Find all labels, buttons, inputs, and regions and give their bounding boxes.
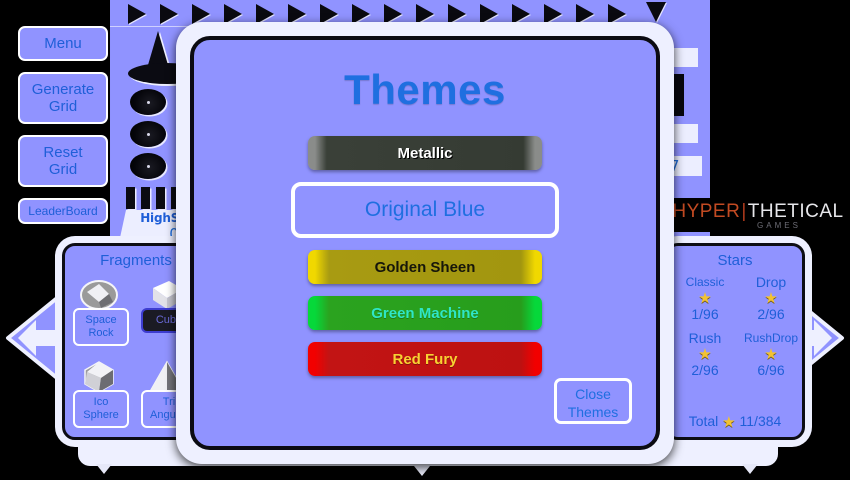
stars-total-row: Total ★ 11/384 xyxy=(668,413,802,430)
triangle-right-icon xyxy=(576,4,594,24)
logo-subtitle: GAMES xyxy=(757,221,801,230)
menu-button[interactable]: Menu xyxy=(18,26,108,61)
triangle-right-icon xyxy=(352,4,370,24)
tray-foot-left xyxy=(96,464,112,474)
theme-option-metallic[interactable]: Metallic xyxy=(308,136,542,170)
logo-part2: THETICAL xyxy=(748,201,844,222)
triangle-right-icon xyxy=(544,4,562,24)
triangle-right-icon xyxy=(160,4,178,24)
themes-modal-body: Themes MetallicOriginal BlueGolden Sheen… xyxy=(190,36,660,450)
fragment-label[interactable]: IcoSphere xyxy=(73,390,129,428)
theme-option-red-fury[interactable]: Red Fury xyxy=(308,342,542,376)
icosphere-icon xyxy=(79,360,119,394)
triangle-right-icon xyxy=(288,4,306,24)
reset-grid-button[interactable]: ResetGrid xyxy=(18,135,108,187)
brand-logo: HYPER|THETICAL GAMES xyxy=(672,198,844,232)
star-icon: ★ xyxy=(672,347,738,362)
arrow-left-icon xyxy=(2,290,64,386)
logo-divider: | xyxy=(741,201,746,222)
bar-icon xyxy=(141,187,150,209)
triangle-right-icon xyxy=(384,4,402,24)
triangle-right-icon xyxy=(256,4,274,24)
theme-option-original-blue[interactable]: Original Blue xyxy=(291,182,559,238)
star-mode-count: 2/96 xyxy=(738,306,804,322)
hole-icon xyxy=(130,89,166,115)
stars-grid: Classic★1/96Drop★2/96Rush★2/96RushDrop★6… xyxy=(672,274,804,378)
left-button-column: MenuGenerateGridResetGridLeaderBoard xyxy=(18,26,108,224)
triangle-right-icon xyxy=(320,4,338,24)
triangle-right-icon xyxy=(480,4,498,24)
modal-title: Themes xyxy=(194,40,656,114)
star-mode-cell: Classic★1/96 xyxy=(672,274,738,322)
cone-icon xyxy=(148,31,168,65)
star-mode-cell: RushDrop★6/96 xyxy=(738,330,804,378)
star-mode-count: 1/96 xyxy=(672,306,738,322)
theme-option-green-machine[interactable]: Green Machine xyxy=(308,296,542,330)
sphere-rock-icon xyxy=(79,278,119,312)
hole-icon xyxy=(130,121,166,147)
logo-part1: HYPER xyxy=(672,201,740,222)
triangle-right-icon xyxy=(416,4,434,24)
star-mode-cell: Drop★2/96 xyxy=(738,274,804,322)
logo-text: HYPER|THETICAL xyxy=(672,201,843,223)
star-icon: ★ xyxy=(722,414,735,431)
star-mode-count: 2/96 xyxy=(672,362,738,378)
star-mode-cell: Rush★2/96 xyxy=(672,330,738,378)
star-mode-count: 6/96 xyxy=(738,362,804,378)
fragment-cell[interactable]: SpaceRock xyxy=(73,278,129,350)
bar-icon xyxy=(126,187,135,209)
triangle-right-icon xyxy=(192,4,210,24)
stars-title: Stars xyxy=(668,246,802,269)
close-themes-button[interactable]: CloseThemes xyxy=(554,378,632,424)
tray-foot-center xyxy=(414,466,430,476)
triangle-right-icon xyxy=(128,4,146,24)
triangle-down-icon xyxy=(646,2,666,22)
generate-grid-button[interactable]: GenerateGrid xyxy=(18,72,108,124)
star-icon: ★ xyxy=(738,291,804,306)
stars-total-value: 11/384 xyxy=(740,413,782,429)
theme-option-list: MetallicOriginal BlueGolden SheenGreen M… xyxy=(194,136,656,376)
fragment-label[interactable]: SpaceRock xyxy=(73,308,129,346)
fragment-cell[interactable]: IcoSphere xyxy=(73,360,129,432)
leaderboard-button[interactable]: LeaderBoard xyxy=(18,198,108,224)
triangle-right-icon xyxy=(224,4,242,24)
bar-icon xyxy=(156,187,165,209)
star-icon: ★ xyxy=(672,291,738,306)
triangle-right-icon xyxy=(512,4,530,24)
theme-option-golden-sheen[interactable]: Golden Sheen xyxy=(308,250,542,284)
star-icon: ★ xyxy=(738,347,804,362)
game-screen: HighScore 0 ★★★ 0 0 1,887 HYPER|THETICAL… xyxy=(0,0,850,480)
hole-icon xyxy=(130,153,166,179)
themes-modal: Themes MetallicOriginal BlueGolden Sheen… xyxy=(176,22,674,464)
triangle-right-icon xyxy=(448,4,466,24)
tray-foot-right xyxy=(742,464,758,474)
stars-panel: Stars Classic★1/96Drop★2/96Rush★2/96Rush… xyxy=(665,243,805,440)
triangle-right-icon xyxy=(608,4,626,24)
stars-total-label: Total xyxy=(689,413,719,429)
nav-previous-button[interactable] xyxy=(2,290,64,386)
